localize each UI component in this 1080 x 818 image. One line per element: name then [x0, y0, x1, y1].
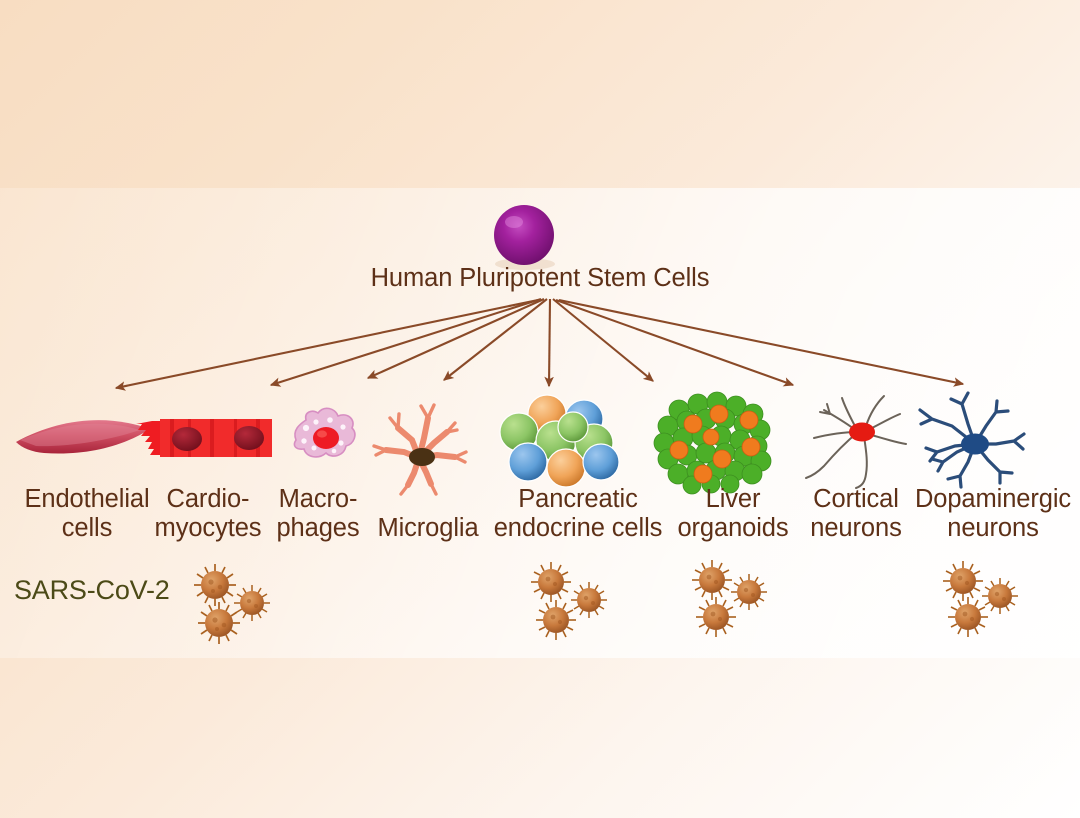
label-macrophages: Macro-phages	[266, 485, 370, 543]
stem-cell-sphere	[494, 205, 555, 270]
label-cortical-neurons: Corticalneurons	[800, 485, 912, 543]
label-microglia: Microglia	[366, 514, 490, 543]
arrow-to-microglia	[444, 299, 547, 380]
arrow-to-endothelial-cells	[116, 300, 538, 388]
label-dopaminergic-neurons: Dopaminergicneurons	[907, 485, 1079, 543]
figure-title: Human Pluripotent Stem Cells	[340, 264, 740, 293]
arrow-to-dopaminergic-neurons	[559, 300, 963, 384]
differentiation-arrows	[116, 299, 963, 388]
arrow-to-liver-organoids	[553, 299, 653, 381]
label-line-2: phages	[276, 514, 359, 542]
label-line-1: Dopaminergic	[915, 485, 1071, 513]
cardiomyocyte-icon	[136, 419, 272, 457]
label-line-1: Cardio-	[167, 485, 250, 513]
label-line-1: Pancreatic	[518, 485, 637, 513]
microglia-icon	[374, 405, 466, 494]
dopaminergic-neuron-icon	[920, 393, 1024, 487]
pancreatic-islet-icon	[500, 395, 619, 487]
arrow-to-cortical-neurons	[556, 300, 793, 385]
sars-cov-2-label: SARS-CoV-2	[14, 575, 224, 605]
label-line-1: Endothelial	[24, 485, 149, 513]
arrow-to-macrophages	[368, 299, 544, 378]
label-pancreatic-endocrine-cells: Pancreaticendocrine cells	[480, 485, 676, 543]
virus-cluster-liver	[692, 560, 767, 637]
virus-cluster-pancreatic	[531, 562, 607, 640]
arrow-to-cardiomyocytes	[271, 299, 541, 385]
label-line-2: Microglia	[377, 514, 478, 542]
label-liver-organoids: Liverorganoids	[668, 485, 798, 543]
label-line-1: Liver	[706, 485, 761, 513]
arrow-to-pancreatic-endocrine-cells	[549, 299, 550, 386]
cortical-neuron-icon	[806, 396, 906, 488]
label-line-1: Macro-	[279, 485, 358, 513]
endothelial-cell-icon	[16, 420, 150, 453]
label-line-2: cells	[62, 514, 113, 542]
label-line-2: myocytes	[155, 514, 262, 542]
macrophage-icon	[294, 408, 354, 457]
figure-canvas: Human Pluripotent Stem Cells Endothelial…	[0, 0, 1080, 818]
virus-cluster-dopaminergic	[943, 561, 1018, 637]
label-line-2: endocrine cells	[494, 514, 663, 542]
label-endothelial-cells: Endothelialcells	[7, 485, 167, 543]
diagram-graphics	[0, 0, 1080, 818]
label-line-1: Cortical	[813, 485, 899, 513]
label-line-2: organoids	[677, 514, 788, 542]
label-line-2: neurons	[947, 514, 1038, 542]
liver-organoid-icon	[654, 392, 771, 494]
label-cardiomyocytes: Cardio-myocytes	[144, 485, 272, 543]
label-line-2: neurons	[810, 514, 901, 542]
